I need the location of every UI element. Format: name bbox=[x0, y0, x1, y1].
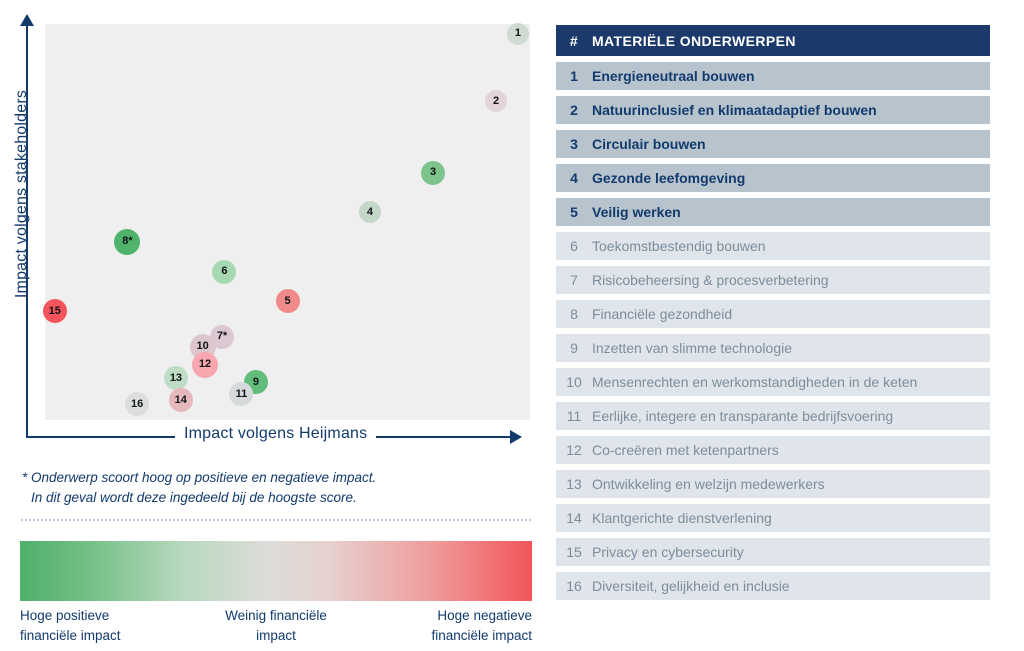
x-axis-label: Impact volgens Heijmans bbox=[175, 425, 376, 443]
table-cell-topic: Energieneutraal bouwen bbox=[592, 68, 990, 84]
plot-area: 1234567*8*910111213141516 bbox=[45, 24, 530, 420]
table-cell-number: 5 bbox=[556, 204, 592, 220]
table-cell-topic: Financiële gezondheid bbox=[592, 306, 990, 322]
footnote-line-2: In dit geval wordt deze ingedeeld bij de… bbox=[22, 488, 522, 508]
table-row[interactable]: 13Ontwikkeling en welzijn medewerkers bbox=[556, 470, 990, 498]
data-point-2[interactable]: 2 bbox=[485, 90, 507, 112]
legend-label-high-positive: Hoge positieve financiële impact bbox=[20, 606, 121, 645]
table-cell-topic: Risicobeheersing & procesverbetering bbox=[592, 272, 990, 288]
table-row[interactable]: 16Diversiteit, gelijkheid en inclusie bbox=[556, 572, 990, 600]
table-cell-topic: Ontwikkeling en welzijn medewerkers bbox=[592, 476, 990, 492]
table-cell-number: 12 bbox=[556, 442, 592, 458]
table-row[interactable]: 4Gezonde leefomgeving bbox=[556, 164, 990, 192]
materiality-matrix-page: 1234567*8*910111213141516 Impact volgens… bbox=[0, 0, 1024, 651]
table-row[interactable]: 3Circulair bouwen bbox=[556, 130, 990, 158]
table-header-number: # bbox=[556, 33, 592, 49]
table-cell-number: 9 bbox=[556, 340, 592, 356]
table-row[interactable]: 7Risicobeheersing & procesverbetering bbox=[556, 266, 990, 294]
table-cell-number: 14 bbox=[556, 510, 592, 526]
table-cell-topic: Klantgerichte dienstverlening bbox=[592, 510, 990, 526]
legend-label-little: Weinig financiële impact bbox=[225, 606, 327, 645]
table-cell-number: 2 bbox=[556, 102, 592, 118]
footnote: * Onderwerp scoort hoog op positieve en … bbox=[22, 468, 522, 509]
table-row[interactable]: 1Energieneutraal bouwen bbox=[556, 62, 990, 90]
table-cell-topic: Veilig werken bbox=[592, 204, 990, 220]
data-point-14[interactable]: 14 bbox=[169, 388, 193, 412]
y-axis-label: Impact volgens stakeholders bbox=[13, 44, 31, 344]
table-cell-number: 10 bbox=[556, 374, 592, 390]
table-cell-topic: Eerlijke, integere en transparante bedri… bbox=[592, 408, 990, 424]
table-cell-topic: Diversiteit, gelijkheid en inclusie bbox=[592, 578, 990, 594]
data-point-3[interactable]: 3 bbox=[421, 161, 445, 185]
table-row[interactable]: 15Privacy en cybersecurity bbox=[556, 538, 990, 566]
table-cell-number: 8 bbox=[556, 306, 592, 322]
data-point-4[interactable]: 4 bbox=[359, 201, 381, 223]
matrix-panel: 1234567*8*910111213141516 Impact volgens… bbox=[0, 0, 545, 460]
table-cell-topic: Circulair bouwen bbox=[592, 136, 990, 152]
table-header-row: # MATERIËLE ONDERWERPEN bbox=[556, 25, 990, 56]
table-row[interactable]: 14Klantgerichte dienstverlening bbox=[556, 504, 990, 532]
data-point-6[interactable]: 6 bbox=[212, 260, 236, 284]
table-row[interactable]: 11Eerlijke, integere en transparante bed… bbox=[556, 402, 990, 430]
data-point-12[interactable]: 12 bbox=[192, 352, 218, 378]
table-cell-number: 15 bbox=[556, 544, 592, 560]
table-row[interactable]: 12Co-creëren met ketenpartners bbox=[556, 436, 990, 464]
table-cell-number: 4 bbox=[556, 170, 592, 186]
x-axis-arrow-icon bbox=[510, 430, 522, 444]
data-point-5[interactable]: 5 bbox=[276, 289, 300, 313]
data-point-8[interactable]: 8* bbox=[114, 229, 140, 255]
data-point-15[interactable]: 15 bbox=[43, 299, 67, 323]
data-point-13[interactable]: 13 bbox=[164, 366, 188, 390]
table-cell-number: 16 bbox=[556, 578, 592, 594]
table-cell-topic: Gezonde leefomgeving bbox=[592, 170, 990, 186]
table-cell-topic: Privacy en cybersecurity bbox=[592, 544, 990, 560]
footnote-line-1: * Onderwerp scoort hoog op positieve en … bbox=[22, 468, 522, 488]
table-cell-number: 3 bbox=[556, 136, 592, 152]
table-cell-number: 1 bbox=[556, 68, 592, 84]
table-cell-topic: Inzetten van slimme technologie bbox=[592, 340, 990, 356]
table-cell-topic: Toekomstbestendig bouwen bbox=[592, 238, 990, 254]
data-point-1[interactable]: 1 bbox=[507, 23, 529, 45]
financial-impact-gradient-bar bbox=[20, 541, 532, 601]
table-row[interactable]: 5Veilig werken bbox=[556, 198, 990, 226]
data-point-11[interactable]: 11 bbox=[229, 382, 253, 406]
material-topics-table: # MATERIËLE ONDERWERPEN 1Energieneutraal… bbox=[556, 25, 990, 600]
table-cell-number: 6 bbox=[556, 238, 592, 254]
table-cell-topic: Mensenrechten en werkomstandigheden in d… bbox=[592, 374, 990, 390]
table-header-title: MATERIËLE ONDERWERPEN bbox=[592, 33, 990, 49]
table-cell-number: 13 bbox=[556, 476, 592, 492]
table-cell-number: 11 bbox=[556, 408, 592, 424]
table-row[interactable]: 2Natuurinclusief en klimaatadaptief bouw… bbox=[556, 96, 990, 124]
table-cell-topic: Natuurinclusief en klimaatadaptief bouwe… bbox=[592, 102, 990, 118]
legend-label-high-negative: Hoge negatieve financiële impact bbox=[431, 606, 532, 645]
gradient-legend-labels: Hoge positieve financiële impact Weinig … bbox=[20, 606, 532, 645]
table-cell-number: 7 bbox=[556, 272, 592, 288]
table-row[interactable]: 10Mensenrechten en werkomstandigheden in… bbox=[556, 368, 990, 396]
table-row[interactable]: 9Inzetten van slimme technologie bbox=[556, 334, 990, 362]
data-point-16[interactable]: 16 bbox=[125, 392, 149, 416]
section-divider bbox=[20, 519, 532, 521]
table-body: 1Energieneutraal bouwen2Natuurinclusief … bbox=[556, 62, 990, 600]
table-row[interactable]: 6Toekomstbestendig bouwen bbox=[556, 232, 990, 260]
table-row[interactable]: 8Financiële gezondheid bbox=[556, 300, 990, 328]
table-cell-topic: Co-creëren met ketenpartners bbox=[592, 442, 990, 458]
y-axis-arrow-icon bbox=[20, 14, 34, 26]
